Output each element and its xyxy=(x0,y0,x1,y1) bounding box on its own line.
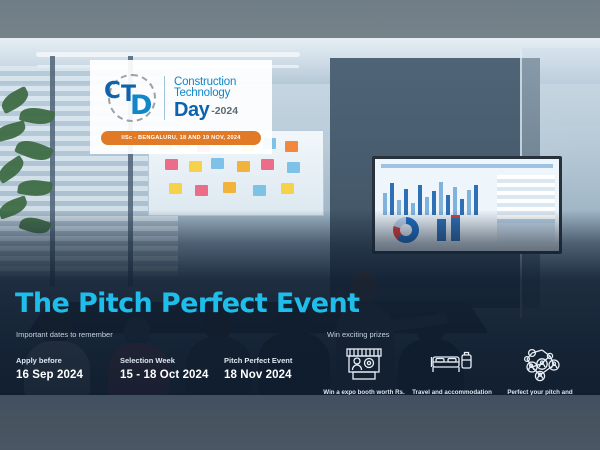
important-dates-list: Apply before 16 Sep 2024 Selection Week … xyxy=(16,356,328,381)
expo-booth-icon xyxy=(320,344,408,384)
logo-letter-c: C xyxy=(104,78,120,104)
prize-item-expo-booth: Win a expo booth worth Rs. 75,000 xyxy=(320,344,408,395)
date-label: Pitch Perfect Event xyxy=(224,356,328,365)
dates-section-heading: Important dates to remember xyxy=(16,330,113,339)
event-logo-card: C T D Construction Technology Day -2024 … xyxy=(90,60,272,154)
letterbox-bar-bottom xyxy=(0,395,600,450)
date-label: Selection Week xyxy=(120,356,224,365)
logo-year: -2024 xyxy=(211,106,238,117)
date-value: 18 Nov 2024 xyxy=(224,369,328,381)
event-poster: C T D Construction Technology Day -2024 … xyxy=(0,38,600,395)
logo-line-day: Day xyxy=(174,100,209,120)
date-item-pitch-perfect-event: Pitch Perfect Event 18 Nov 2024 xyxy=(224,356,328,381)
logo-line-technology: Technology xyxy=(174,88,238,100)
page-title: The Pitch Perfect Event xyxy=(15,288,359,319)
screenshot-stage: C T D Construction Technology Day -2024 … xyxy=(0,0,600,450)
screen-header-bar xyxy=(381,164,553,168)
date-item-selection-week: Selection Week 15 - 18 Oct 2024 xyxy=(120,356,224,381)
letterbox-bar-top xyxy=(0,0,600,38)
venue-date-pill: IISc - BENGALURU, 18 AND 19 NOV, 2024 xyxy=(101,131,261,145)
date-value: 16 Sep 2024 xyxy=(16,369,120,381)
hotel-bed-luggage-icon xyxy=(408,344,496,384)
network-people-icon xyxy=(496,344,584,384)
ctd-monogram-icon: C T D xyxy=(104,72,160,124)
prize-item-network-vcs: Perfect your pitch and network with glob… xyxy=(496,344,584,395)
prizes-list: Win a expo booth worth Rs. 75,000 xyxy=(320,344,584,395)
logo-letter-d: D xyxy=(130,90,152,121)
prizes-section-heading: Win exciting prizes xyxy=(327,330,390,339)
date-item-apply-before: Apply before 16 Sep 2024 xyxy=(16,356,120,381)
date-label: Apply before xyxy=(16,356,120,365)
prize-item-travel-accommodation: Travel and accommodation support for pre… xyxy=(408,344,496,395)
logo-divider xyxy=(164,76,165,120)
date-value: 15 - 18 Oct 2024 xyxy=(120,369,224,381)
